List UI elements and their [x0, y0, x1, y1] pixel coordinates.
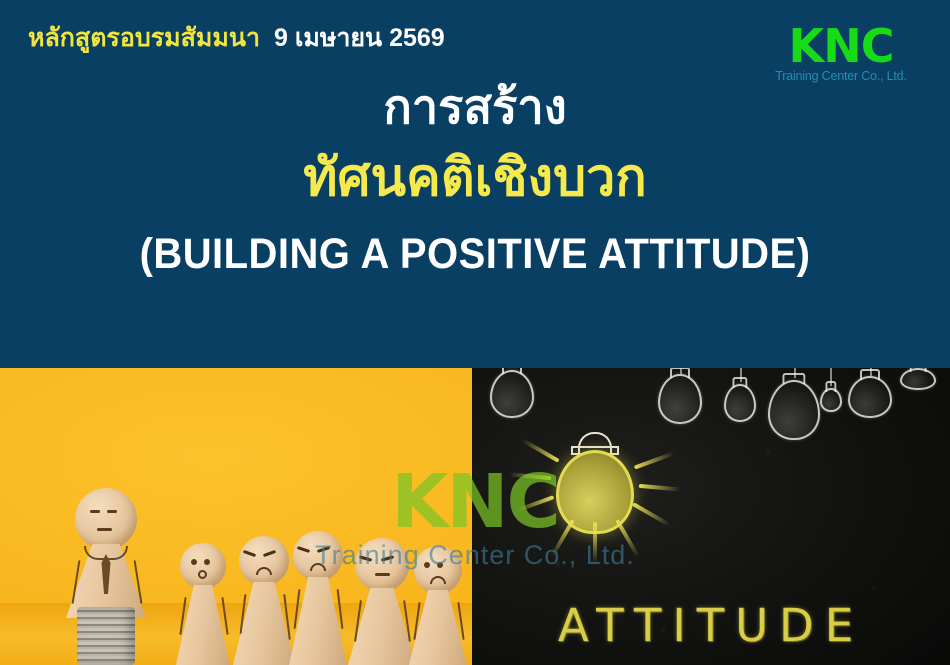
peg-eye-left [90, 510, 100, 513]
coin-stack [77, 607, 135, 665]
peg-head [414, 546, 462, 594]
bulb-ray [593, 522, 597, 564]
peg-head [355, 538, 409, 592]
poster-title-group: การสร้าง ทัศนคติเชิงบวก (BUILDING A POSI… [0, 78, 950, 282]
knc-logo: KNC Training Center Co., Ltd. [756, 24, 926, 83]
photo-strip: ATTITUDE [0, 368, 950, 665]
photo-chalkboard: ATTITUDE [472, 368, 950, 665]
peg-eye-right [107, 510, 117, 513]
logo-wordmark: KNC [756, 24, 926, 68]
chalk-bulb-icon-7 [900, 368, 936, 390]
peg-eye-right [437, 562, 443, 568]
peg-head [180, 543, 226, 589]
chalk-bulb-icon-2 [658, 374, 702, 424]
peg-eye-right [204, 559, 210, 565]
peg-head [75, 488, 137, 550]
banner-top-row: หลักสูตรอบรมสัมมนา9 เมษายน 2569 KNC Trai… [0, 18, 950, 64]
chalk-attitude-text: ATTITUDE [558, 601, 864, 651]
chalk-bulb-icon-5 [820, 388, 842, 412]
course-info-line: หลักสูตรอบรมสัมมนา9 เมษายน 2569 [28, 18, 445, 58]
peg-figure-leader [58, 488, 154, 665]
peg-mouth [375, 573, 390, 576]
header-banner: หลักสูตรอบรมสัมมนา9 เมษายน 2569 KNC Trai… [0, 0, 950, 368]
peg-figure-3 [285, 531, 351, 665]
title-english: (BUILDING A POSITIVE ATTITUDE) [33, 226, 917, 282]
chalk-bulb-icon-1 [490, 370, 534, 418]
title-thai-line-1: การสร้าง [0, 78, 950, 136]
title-thai-line-2: ทัศนคติเชิงบวก [0, 142, 950, 214]
peg-figure-1 [172, 543, 234, 665]
peg-eye-left [424, 562, 430, 568]
photo-wooden-figures [0, 368, 472, 665]
peg-eye-left [191, 559, 197, 565]
peg-head [293, 531, 343, 581]
chalk-bulb-icon-6 [848, 376, 892, 418]
peg-head [239, 536, 289, 586]
peg-mouth [198, 570, 207, 579]
chalk-bulb-glowing [552, 426, 638, 534]
course-label: หลักสูตรอบรมสัมมนา [28, 24, 260, 52]
peg-figure-5 [406, 546, 470, 665]
peg-arm-right [221, 597, 228, 635]
peg-mouth [97, 528, 112, 531]
seminar-poster: หลักสูตรอบรมสัมมนา9 เมษายน 2569 KNC Trai… [0, 0, 950, 665]
chalk-bulb-icon-4 [768, 380, 820, 440]
course-date: 9 เมษายน 2569 [274, 24, 445, 52]
chalk-bulb-icon-3 [724, 384, 756, 422]
